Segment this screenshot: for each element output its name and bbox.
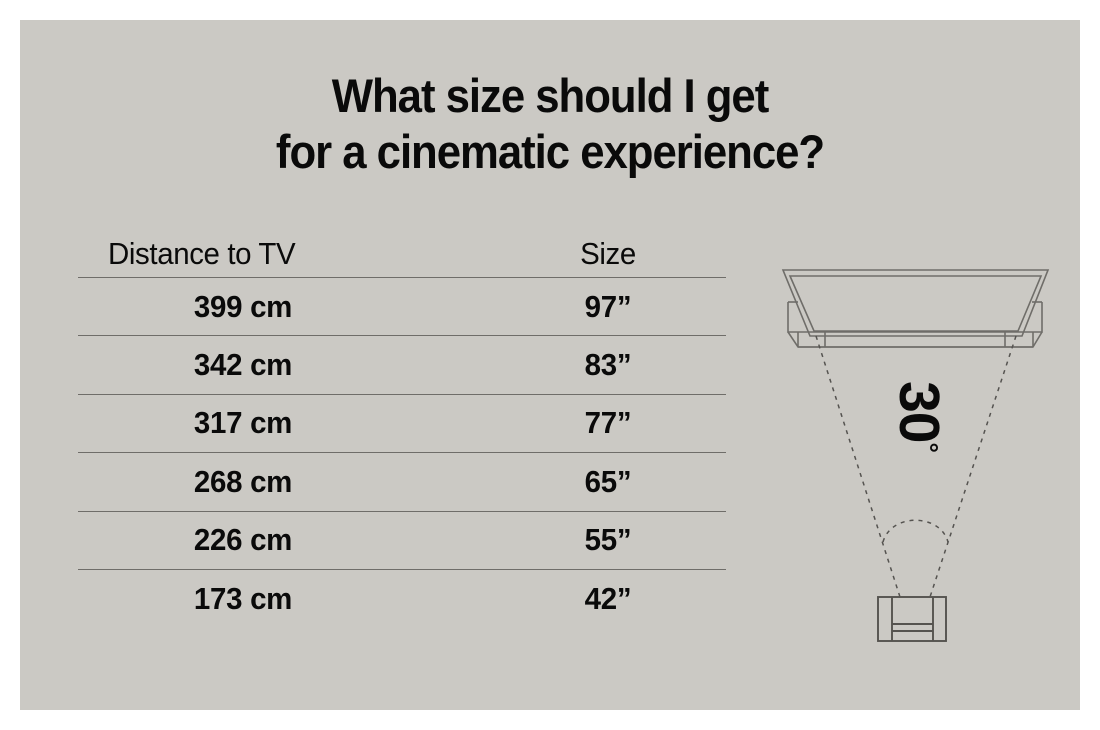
cell-distance: 226 cm: [124, 523, 362, 557]
tv-top-view-icon: [783, 270, 1048, 347]
cell-size: 42”: [537, 582, 680, 616]
sofa-top-view-icon: [878, 597, 946, 641]
table-row: 399 cm 97”: [78, 277, 726, 335]
degree-symbol: °: [914, 443, 944, 453]
size-guide-table: Distance to TV Size 399 cm 97” 342 cm 83…: [78, 225, 726, 627]
content-panel: What size should I get for a cinematic e…: [20, 20, 1080, 710]
column-header-size: Size: [537, 237, 680, 271]
cell-distance: 399 cm: [124, 290, 362, 324]
page-title: What size should I get for a cinematic e…: [57, 68, 1043, 180]
cell-size: 55”: [537, 523, 680, 557]
table-row: 268 cm 65”: [78, 452, 726, 510]
cell-distance: 173 cm: [124, 582, 362, 616]
table-body: 399 cm 97” 342 cm 83” 317 cm 77” 268 cm …: [78, 277, 726, 627]
table-header-row: Distance to TV Size: [78, 225, 726, 277]
viewing-angle-label: 30°: [868, 372, 958, 462]
cell-distance: 342 cm: [124, 348, 362, 382]
cell-size: 65”: [537, 465, 680, 499]
infographic-root: What size should I get for a cinematic e…: [0, 0, 1100, 730]
viewing-angle-value: 30: [887, 381, 951, 442]
cell-distance: 317 cm: [124, 406, 362, 440]
cell-size: 83”: [537, 348, 680, 382]
cell-size: 77”: [537, 406, 680, 440]
cell-distance: 268 cm: [124, 465, 362, 499]
table-row: 226 cm 55”: [78, 511, 726, 569]
table-row: 173 cm 42”: [78, 569, 726, 627]
column-header-distance: Distance to TV: [108, 237, 295, 271]
cell-size: 97”: [537, 290, 680, 324]
table-row: 317 cm 77”: [78, 394, 726, 452]
table-row: 342 cm 83”: [78, 335, 726, 393]
